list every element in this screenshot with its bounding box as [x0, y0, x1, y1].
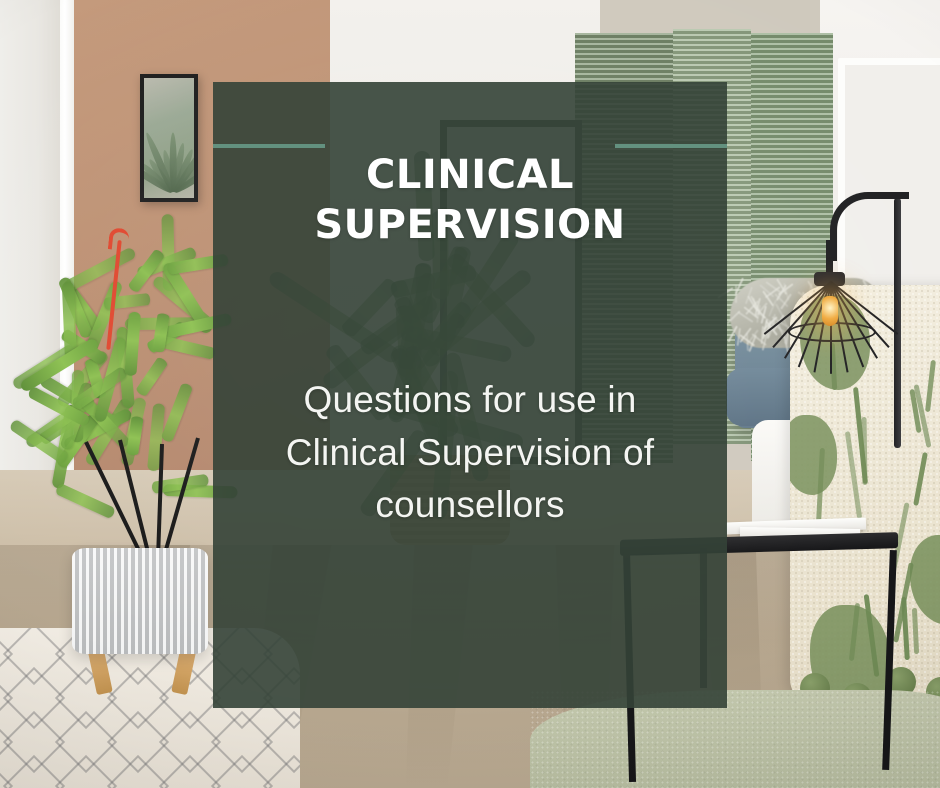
page-title: CLINICAL SUPERVISION: [213, 150, 727, 251]
accent-rule-right: [615, 144, 727, 148]
title-line-2: SUPERVISION: [213, 200, 727, 250]
green-overlay-panel: CLINICAL SUPERVISION Questions for use i…: [213, 82, 727, 708]
title-line-1: CLINICAL: [213, 150, 727, 200]
floor-lamp-arc: [830, 192, 909, 261]
knitted-ottoman: [72, 548, 208, 654]
aloe-artwork: [144, 78, 194, 198]
accent-rule-left: [213, 144, 325, 148]
subtitle-line-3: counsellors: [247, 479, 693, 532]
subtitle-line-1: Questions for use in: [247, 374, 693, 427]
framed-aloe-picture: [140, 74, 198, 202]
title-rule-row: [213, 144, 727, 148]
page-subtitle: Questions for use in Clinical Supervisio…: [247, 374, 693, 532]
subtitle-line-2: Clinical Supervision of: [247, 427, 693, 480]
light-bulb-icon: [822, 296, 838, 326]
title-card-canvas: CLINICAL SUPERVISION Questions for use i…: [0, 0, 940, 788]
